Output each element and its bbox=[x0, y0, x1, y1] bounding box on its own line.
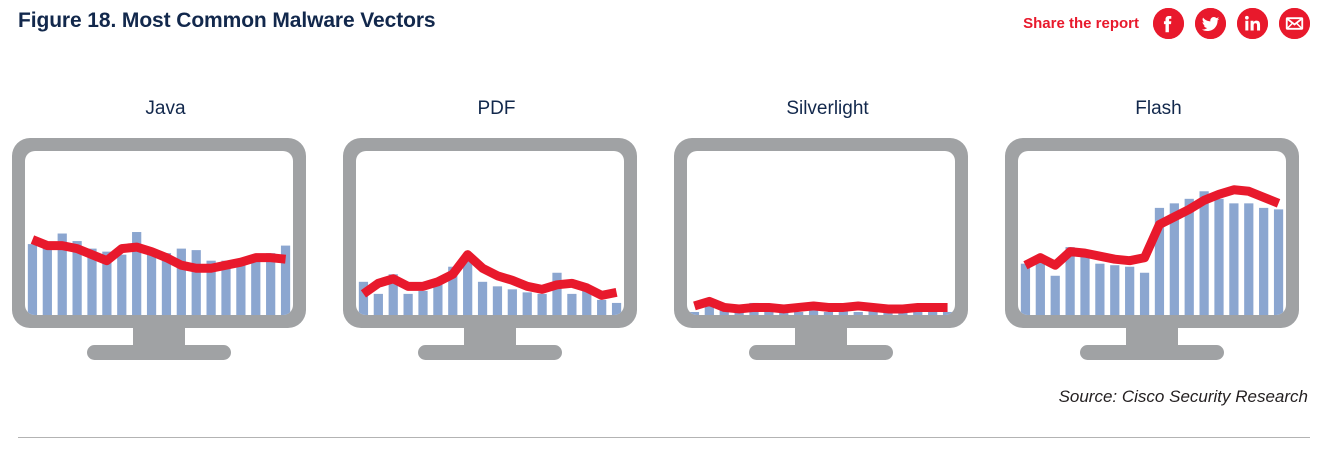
chart-bar bbox=[1125, 267, 1134, 315]
plot-area bbox=[1021, 190, 1283, 315]
page-title: Figure 18. Most Common Malware Vectors bbox=[18, 9, 435, 33]
share-the-report-group: Share the report bbox=[1023, 8, 1310, 39]
chart-title-java: Java bbox=[0, 98, 331, 120]
trend-line bbox=[32, 240, 285, 269]
chart-bar bbox=[1244, 203, 1253, 315]
chart-bar bbox=[28, 244, 37, 315]
chart-bar bbox=[478, 282, 487, 315]
chart-bar bbox=[567, 294, 576, 315]
chart-bar bbox=[597, 300, 606, 315]
chart-bar bbox=[1110, 265, 1119, 315]
chart-bar bbox=[809, 310, 818, 315]
plot-area bbox=[690, 301, 952, 315]
chart-bar bbox=[43, 247, 52, 315]
chart-title-silverlight: Silverlight bbox=[662, 98, 993, 120]
chart-bar bbox=[794, 312, 803, 315]
chart-bar bbox=[523, 292, 532, 315]
chart-bar bbox=[1274, 209, 1283, 315]
monitor-bezel bbox=[12, 138, 306, 328]
chart-bar bbox=[1259, 208, 1268, 315]
chart-bar bbox=[1229, 203, 1238, 315]
chart-title-flash: Flash bbox=[993, 98, 1324, 120]
chart-bar bbox=[493, 286, 502, 315]
monitor-java bbox=[0, 135, 331, 385]
chart-bar bbox=[1021, 264, 1030, 315]
chart-panel-pdf: PDF bbox=[331, 98, 662, 388]
monitor-bezel bbox=[674, 138, 968, 328]
twitter-icon[interactable] bbox=[1195, 8, 1226, 39]
plot-area bbox=[28, 232, 290, 315]
monitor-bezel bbox=[343, 138, 637, 328]
monitor-pdf bbox=[331, 135, 662, 385]
monitor-stand-base bbox=[749, 345, 893, 360]
plot-area bbox=[359, 255, 621, 315]
monitor-graphic bbox=[331, 135, 662, 385]
chart-bar bbox=[418, 291, 427, 315]
monitor-stand-base bbox=[87, 345, 231, 360]
chart-bar bbox=[1200, 191, 1209, 315]
chart-bar bbox=[1214, 199, 1223, 315]
monitor-stand-base bbox=[1080, 345, 1224, 360]
chart-panel-java: Java bbox=[0, 98, 331, 388]
monitor-graphic bbox=[0, 135, 331, 385]
monitor-graphic bbox=[662, 135, 993, 385]
linkedin-icon[interactable] bbox=[1237, 8, 1268, 39]
chart-title-pdf: PDF bbox=[331, 98, 662, 120]
chart-bar bbox=[538, 294, 547, 315]
chart-bar bbox=[192, 250, 201, 315]
email-icon[interactable] bbox=[1279, 8, 1310, 39]
chart-bar bbox=[251, 256, 260, 315]
monitor-graphic bbox=[993, 135, 1324, 385]
chart-bar bbox=[552, 273, 561, 315]
chart-bar bbox=[1036, 256, 1045, 315]
chart-panel-flash: Flash bbox=[993, 98, 1324, 388]
chart-bar bbox=[374, 294, 383, 315]
chart-bar bbox=[1051, 276, 1060, 315]
chart-bar bbox=[824, 312, 833, 315]
chart-bar bbox=[404, 294, 413, 315]
chart-bar bbox=[147, 252, 156, 315]
chart-bar bbox=[236, 259, 245, 315]
bottom-divider bbox=[18, 437, 1310, 438]
share-label: Share the report bbox=[1023, 15, 1139, 32]
chart-bar bbox=[1140, 273, 1149, 315]
chart-panel-silverlight: Silverlight bbox=[662, 98, 993, 388]
chart-bar bbox=[1080, 253, 1089, 315]
chart-bar bbox=[117, 255, 126, 315]
chart-bar bbox=[928, 312, 937, 315]
trend-line bbox=[1025, 190, 1278, 265]
figure-container: Figure 18. Most Common Malware Vectors S… bbox=[0, 0, 1326, 450]
trend-line bbox=[363, 255, 616, 296]
chart-bar bbox=[1095, 264, 1104, 315]
monitor-stand-base bbox=[418, 345, 562, 360]
chart-bar bbox=[1185, 199, 1194, 315]
trend-line bbox=[694, 301, 947, 309]
monitor-flash bbox=[993, 135, 1324, 385]
chart-bar bbox=[508, 289, 517, 315]
monitor-silverlight bbox=[662, 135, 993, 385]
chart-bar bbox=[854, 312, 863, 315]
facebook-icon[interactable] bbox=[1153, 8, 1184, 39]
charts-row: Java PDF Silverlight Flash bbox=[0, 98, 1326, 388]
source-note: Source: Cisco Security Research bbox=[1059, 387, 1308, 407]
